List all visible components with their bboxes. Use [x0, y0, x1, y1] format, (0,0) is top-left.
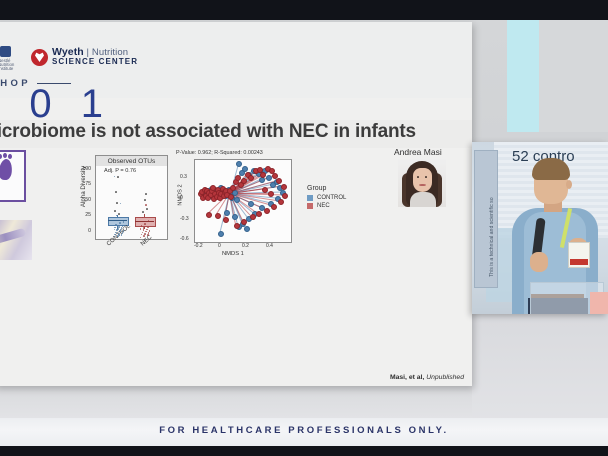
nmds-ytick: -0.3 [180, 216, 189, 222]
biobank-logo [0, 150, 26, 202]
speaker-video-inset[interactable]: 52 contro This is a technical and scient… [472, 142, 608, 314]
legend-swatch-control [307, 195, 313, 201]
boxplot-jitter-point [118, 233, 120, 235]
nmds-point [281, 184, 287, 190]
nmds-point [271, 204, 277, 210]
background-right-panel [539, 20, 608, 132]
boxplot-median-nec [135, 221, 154, 222]
boxplot-jitter-point [143, 235, 145, 237]
nmds-point [218, 231, 224, 237]
nmds-point [223, 217, 229, 223]
background-cyan-strip [507, 20, 539, 132]
letterbox-bottom [0, 446, 608, 456]
nmds-ytick: -0.6 [180, 236, 189, 242]
nmds-scatter-plot: P-Value: 0.962; R-Squared: 0.00243 NMDS … [172, 150, 302, 262]
video-speaker-hand-left [530, 252, 548, 272]
legend-item-control: CONTROL [307, 195, 346, 201]
nmds-point [236, 161, 242, 167]
nmds-point [241, 178, 247, 184]
speaker-name: Andrea Masi [394, 147, 442, 157]
legend-item-nec: NEC [307, 203, 346, 209]
boxplot-alpha-diversity: Observed OTUs Adj. P = 0.76 Alpha Divers… [80, 155, 166, 257]
boxplot-annotation: Adj. P = 0.76 [104, 168, 136, 174]
presentation-slide: Nestlé Nutrition Institute Wyeth | Nutri… [0, 22, 472, 386]
boxplot-median-control [108, 220, 127, 221]
boxplot-box-nec [135, 217, 156, 227]
wyeth-nutrition-science-center-logo: Wyeth | Nutrition SCIENCE CENTER [31, 47, 138, 66]
boxplot-jitter-point [147, 227, 149, 229]
boxplot-jitter-point [143, 229, 145, 231]
boxplot-jitter-point [117, 235, 119, 237]
legend-swatch-nec [307, 203, 313, 209]
nmds-xtick: 0.4 [266, 243, 273, 249]
nmds-points-layer [194, 159, 290, 241]
boxplot-jitter-point [123, 221, 125, 223]
nmds-point [259, 177, 265, 183]
nmds-point [234, 197, 240, 203]
video-side-placard: This is a technical and scientific so [474, 150, 498, 288]
footprint-icon-right [0, 158, 13, 180]
nmds-point [276, 178, 282, 184]
boxplot-jitter-point [144, 233, 146, 235]
nni-line3: Institute [0, 66, 13, 71]
boxplot-jitter-point [123, 230, 125, 232]
boxplot-panel [95, 166, 168, 240]
boxplot-jitter-point [144, 223, 146, 225]
nmds-point [278, 199, 284, 205]
screen: Nestlé Nutrition Institute Wyeth | Nutri… [0, 0, 608, 456]
boxplot-jitter-point [118, 226, 120, 228]
boxplot-jitter-point [119, 222, 121, 224]
boxplot-jitter-point [117, 228, 119, 230]
citation-status: Unpublished [426, 374, 464, 381]
nmds-xtick: -0.2 [194, 243, 203, 249]
nmds-point [248, 201, 254, 207]
wyeth-shield-icon [31, 49, 48, 66]
boxplot-ytick: 0 [79, 228, 91, 234]
video-name-badge [568, 242, 590, 268]
citation-author: Masi, et al, [390, 374, 426, 381]
chart-legend: Group CONTROL NEC [307, 185, 346, 209]
nestle-nutrition-institute-logo: Nestlé Nutrition Institute [0, 44, 24, 70]
boxplot-ytick: 75 [79, 181, 91, 187]
boxplot-jitter-point [145, 204, 147, 206]
nmds-point [215, 213, 221, 219]
nmds-point [206, 212, 212, 218]
nmds-xtick: 0.2 [242, 243, 249, 249]
boxplot-jitter-point [116, 229, 118, 231]
nmds-ytick: 0 [180, 195, 183, 201]
boxplot-jitter-point [143, 227, 145, 229]
legend-label-control: CONTROL [317, 195, 346, 201]
boxplot-jitter-point [116, 215, 118, 217]
nmds-point [228, 194, 234, 200]
hcp-banner-text: FOR HEALTHCARE PROFESSIONALS ONLY. [0, 425, 608, 436]
nmds-point [250, 214, 256, 220]
nmds-ytick: 0.3 [180, 174, 187, 180]
slide-title: microbiome is not associated with NEC in… [0, 121, 450, 143]
nmds-point [241, 219, 247, 225]
science-center-label: SCIENCE CENTER [52, 58, 138, 66]
nmds-point [262, 187, 268, 193]
nmds-stats-annotation: P-Value: 0.962; R-Squared: 0.00243 [176, 150, 263, 156]
boxplot-ytick: 25 [79, 212, 91, 218]
nmds-point [264, 208, 270, 214]
video-side-text: This is a technical and scientific so [489, 155, 495, 277]
video-pink-accent [590, 292, 608, 314]
nmds-point [224, 210, 230, 216]
background-lower-shade [0, 386, 472, 418]
legend-title: Group [307, 185, 346, 192]
boxplot-jitter-point [147, 234, 149, 236]
nmds-point [234, 223, 240, 229]
speaker-headshot [398, 159, 446, 207]
nmds-point [244, 226, 250, 232]
nmds-point [260, 172, 266, 178]
pipette-photo [0, 220, 32, 260]
boxplot-ytick: 100 [79, 166, 91, 172]
video-speaker-hair [532, 158, 570, 180]
slide-citation: Masi, et al, Unpublished [0, 374, 464, 381]
boxplot-ytick: 50 [79, 197, 91, 203]
nmds-xtick: 0 [218, 243, 221, 249]
letterbox-top [0, 0, 608, 20]
nmds-point [282, 193, 288, 199]
legend-label-nec: NEC [317, 203, 330, 209]
video-speaker-ear [566, 180, 572, 189]
slide-logos: Nestlé Nutrition Institute Wyeth | Nutri… [0, 42, 138, 72]
nmds-point [256, 211, 262, 217]
nmds-x-axis-label: NMDS 1 [222, 251, 244, 257]
